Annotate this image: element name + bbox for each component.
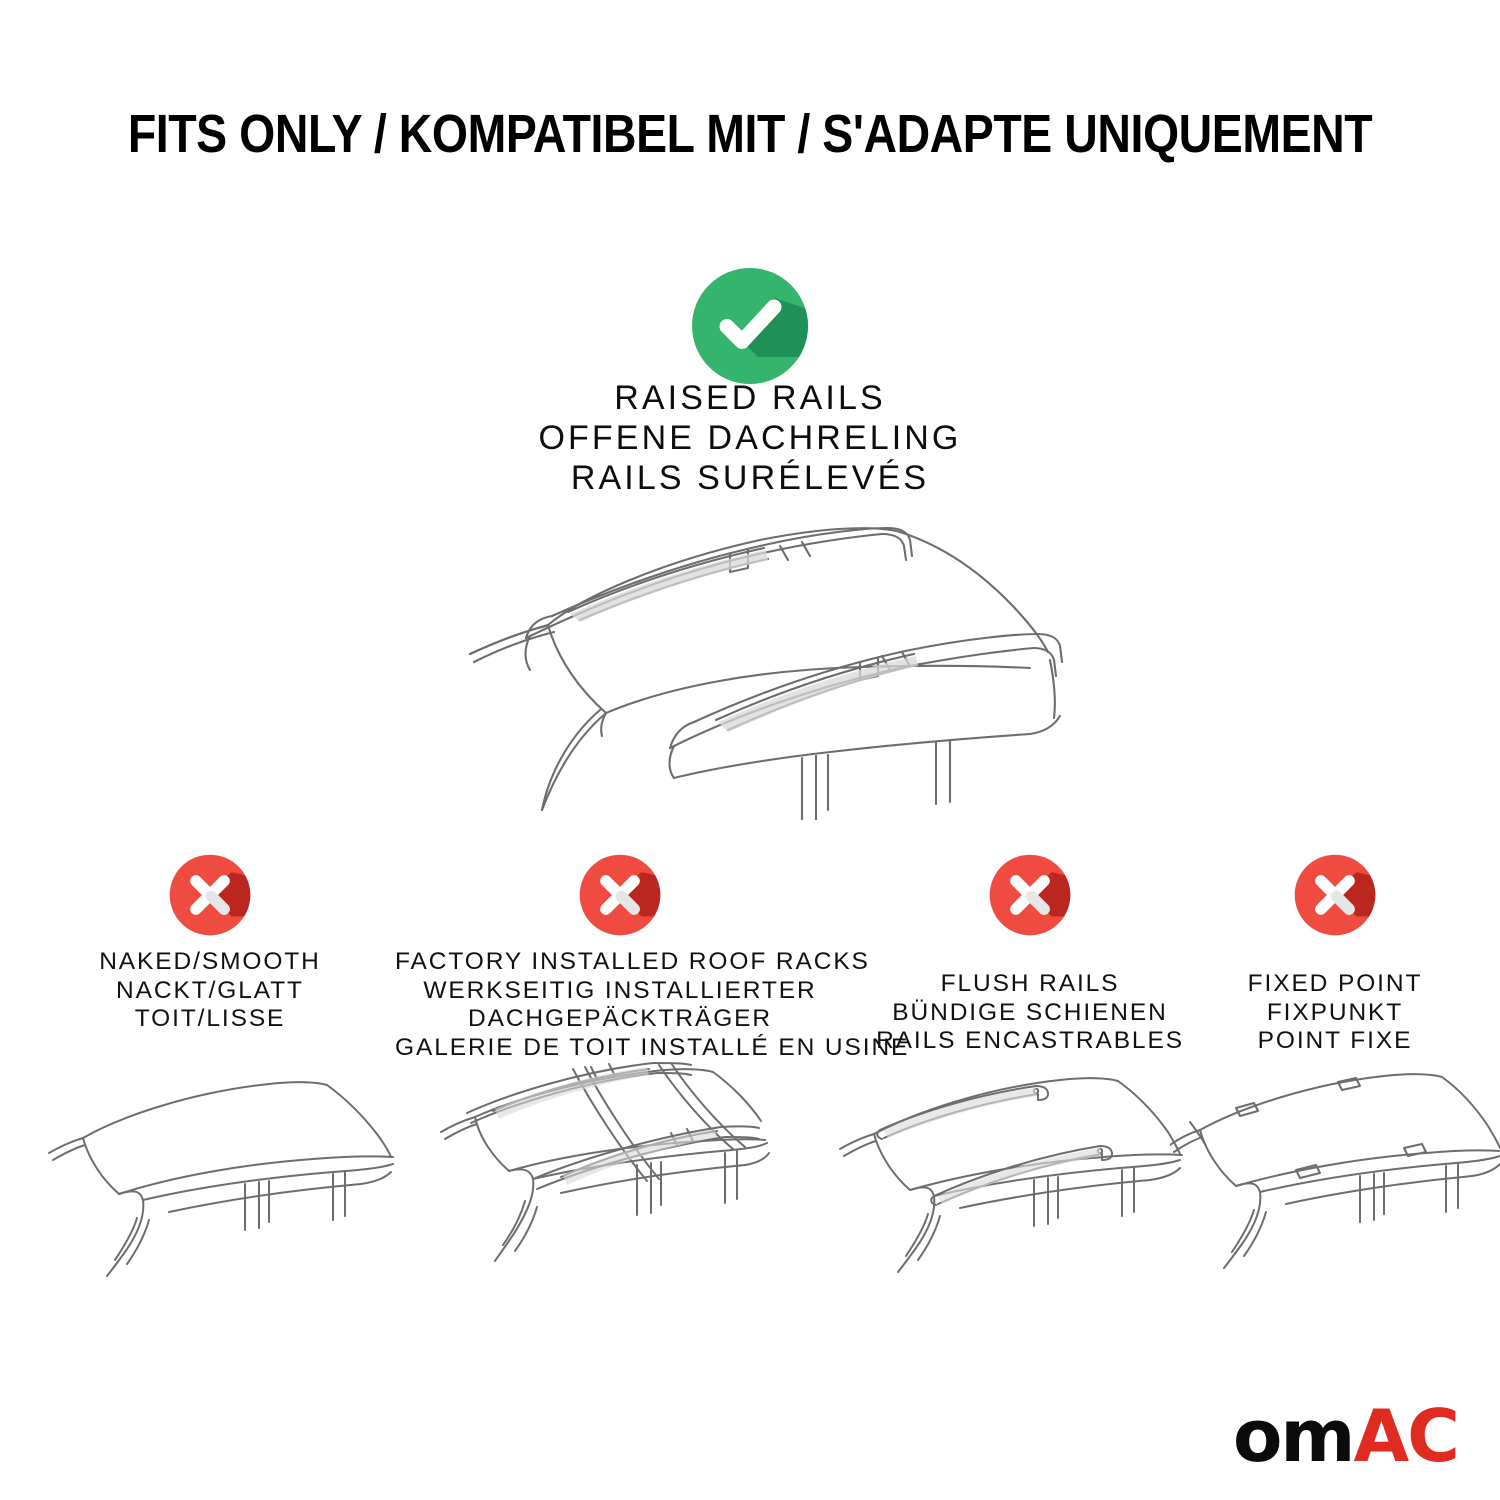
car-roof-raised-rails-illustration (430, 520, 1070, 825)
label-line: DACHGEPÄCKTRÄGER (395, 1005, 845, 1034)
label-line: FLUSH RAILS (855, 970, 1205, 999)
x-circle-icon (1292, 852, 1378, 938)
label-line: NAKED/SMOOTH (60, 948, 360, 977)
label-line: NACKT/GLATT (60, 977, 360, 1006)
page-title: FITS ONLY / KOMPATIBEL MIT / S'ADAPTE UN… (105, 103, 1395, 165)
car-roof-naked-illustration (45, 1060, 415, 1295)
compatible-label-line-1: RAISED RAILS (350, 378, 1150, 418)
incompatible-item-label: NAKED/SMOOTH NACKT/GLATT TOIT/LISSE (60, 948, 360, 1034)
label-line: FIXED POINT (1185, 970, 1485, 999)
compatible-label: RAISED RAILS OFFENE DACHRELING RAILS SUR… (350, 378, 1150, 498)
label-line: BÜNDIGE SCHIENEN (855, 999, 1205, 1028)
incompatible-item-label: FLUSH RAILS BÜNDIGE SCHIENEN RAILS ENCAS… (855, 970, 1205, 1056)
label-line: TOIT/LISSE (60, 1005, 360, 1034)
x-circle-icon (987, 852, 1073, 938)
incompatible-item-label: FIXED POINT FIXPUNKT POINT FIXE (1185, 970, 1485, 1056)
brand-logo-om: om (1233, 1394, 1354, 1478)
compatible-label-line-3: RAILS SURÉLEVÉS (350, 458, 1150, 498)
x-circle-icon (167, 852, 253, 938)
x-circle-icon (577, 852, 663, 938)
label-line: RAILS ENCASTRABLES (855, 1027, 1205, 1056)
car-roof-flush-rails-illustration (838, 1060, 1208, 1295)
incompatible-item-label: FACTORY INSTALLED ROOF RACKS WERKSEITIG … (395, 948, 845, 1062)
check-circle-icon (686, 262, 814, 390)
label-line: FIXPUNKT (1185, 999, 1485, 1028)
car-roof-factory-racks-illustration (415, 1055, 785, 1295)
label-line: POINT FIXE (1185, 1027, 1485, 1056)
compatible-label-line-2: OFFENE DACHRELING (350, 418, 1150, 458)
label-line: WERKSEITIG INSTALLIERTER (395, 977, 845, 1006)
brand-logo: omAC (1233, 1400, 1458, 1472)
brand-logo-ac: AC (1353, 1394, 1458, 1478)
compatibility-infographic: FITS ONLY / KOMPATIBEL MIT / S'ADAPTE UN… (0, 0, 1500, 1500)
car-roof-fixed-point-illustration (1170, 1060, 1500, 1295)
label-line: FACTORY INSTALLED ROOF RACKS (395, 948, 845, 977)
